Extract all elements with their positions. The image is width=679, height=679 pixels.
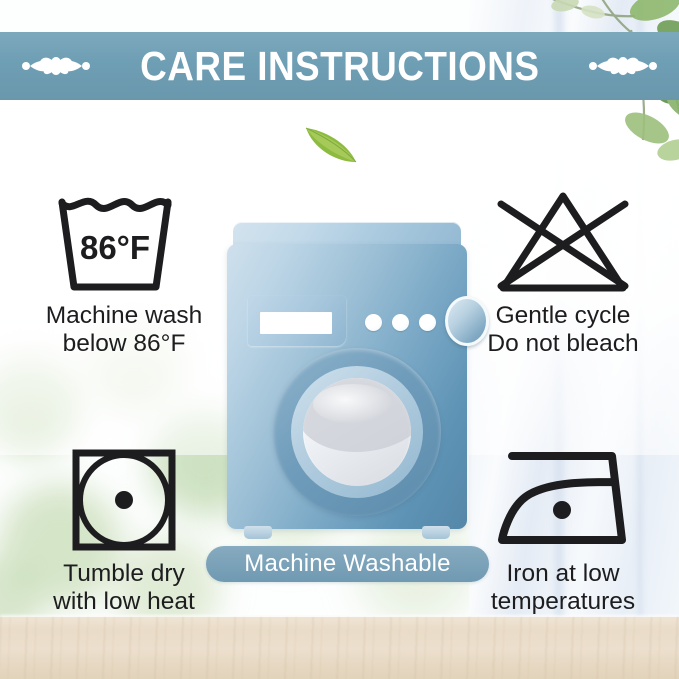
front-load-washing-machine-illustration [222,208,472,540]
care-item-tumble-dry: Tumble dry with low heat [14,444,234,616]
wooden-table-surface [0,617,679,679]
tumble-dry-low-icon [68,447,180,553]
machine-body [227,244,467,529]
fleur-de-lis-icon [18,44,94,88]
machine-washable-badge: Machine Washable [206,546,489,582]
icon-container: 86°F [14,186,234,298]
do-not-bleach-triangle-icon [489,188,637,296]
machine-button-3 [419,314,436,331]
page-title: CARE INSTRUCTIONS [140,43,539,90]
machine-foot-right [422,526,450,539]
care-item-machine-wash: 86°F Machine wash below 86°F [14,186,234,358]
wash-temperature-value: 86°F [80,229,150,266]
machine-button-1 [365,314,382,331]
care-instructions-infographic: CARE INSTRUCTIONS 86°F [0,0,679,679]
care-item-label: Machine wash below 86°F [14,302,234,358]
icon-container [452,444,674,556]
machine-program-knob [445,296,489,346]
machine-door-glass [303,378,411,486]
machine-door-outer-ring [273,348,441,516]
care-item-iron: Iron at low temperatures [452,444,674,616]
wash-tub-icon: 86°F [48,189,200,295]
badge-label: Machine Washable [244,550,450,578]
machine-display-screen [260,312,332,334]
icon-container [452,186,674,298]
header-banner: CARE INSTRUCTIONS [0,32,679,100]
table-wood-grain [0,617,679,679]
machine-button-2 [392,314,409,331]
care-item-label: Tumble dry with low heat [14,560,234,616]
machine-door-inner-ring [291,366,423,498]
fleur-de-lis-icon [585,44,661,88]
machine-foot-left [244,526,272,539]
green-leaf-icon [303,122,359,166]
iron-low-heat-icon [490,448,636,552]
icon-container [14,444,234,556]
machine-door-highlight [313,384,393,424]
machine-control-panel [248,296,346,346]
